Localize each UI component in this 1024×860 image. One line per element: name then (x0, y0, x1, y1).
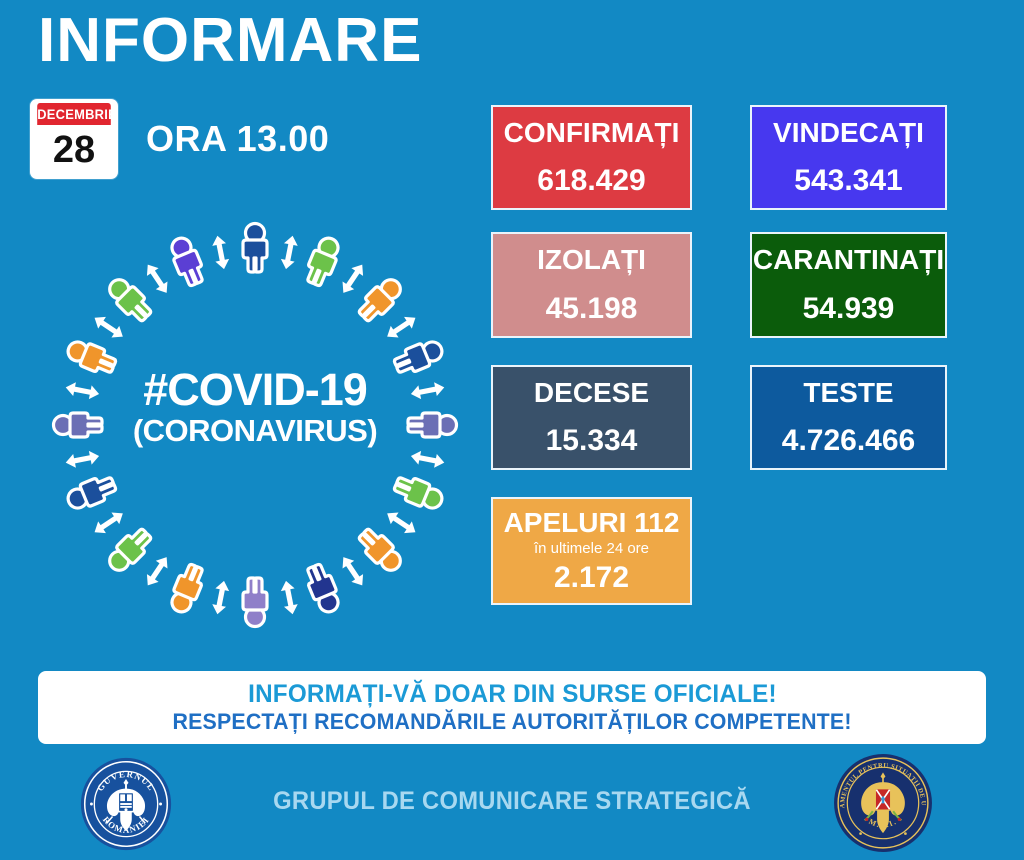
time-label: ORA 13.00 (146, 118, 329, 160)
double-arrow-icon (410, 449, 446, 469)
advisory-line-2: RESPECTAȚI RECOMANDĂRILE AUTORITĂȚILOR C… (172, 709, 851, 734)
double-arrow-icon (142, 261, 173, 297)
person-icon (392, 337, 446, 378)
stat-value-confirmati: 618.429 (537, 164, 645, 197)
stat-box-decese: DECESE 15.334 (491, 365, 692, 470)
stat-value-apeluri: 2.172 (554, 561, 629, 594)
stat-value-izolati: 45.198 (546, 292, 638, 325)
dsu-mai-seal-icon: DEPARTAMENTUL PENTRU SITUAȚII DE URGENȚĂ… (832, 752, 934, 854)
advisory-line-1: INFORMAȚI-VĂ DOAR DIN SURSE OFICIALE! (248, 680, 777, 709)
stat-label-apeluri: APELURI 112 (504, 508, 680, 539)
calendar-icon: DECEMBRIE 28 (30, 99, 118, 179)
double-arrow-icon (211, 234, 231, 270)
stat-label-vindecati: VINDECAȚI (773, 118, 924, 149)
stat-box-teste: TESTE 4.726.466 (750, 365, 947, 470)
person-icon (167, 562, 208, 616)
stat-value-vindecati: 543.341 (794, 164, 902, 197)
people-circle-illustration: #COVID-19 (CORONAVIRUS) (45, 215, 465, 635)
double-arrow-icon (91, 508, 127, 539)
stat-value-carantinati: 54.939 (803, 292, 895, 325)
stat-label-carantinati: CARANTINAȚI (753, 245, 944, 276)
person-icon (167, 234, 208, 288)
person-icon (303, 562, 344, 616)
person-icon (64, 337, 118, 378)
stat-value-decese: 15.334 (546, 424, 638, 457)
double-arrow-icon (410, 381, 446, 401)
page-title: INFORMARE (38, 8, 422, 73)
people-circle-icon (45, 215, 465, 635)
person-icon (408, 413, 457, 437)
advisory-banner: INFORMAȚI-VĂ DOAR DIN SURSE OFICIALE! RE… (38, 671, 986, 744)
double-arrow-icon (383, 312, 419, 343)
calendar-month-label: DECEMBRIE (37, 103, 111, 125)
double-arrow-icon (64, 449, 100, 469)
double-arrow-icon (279, 580, 299, 616)
person-icon (303, 234, 344, 288)
stat-box-apeluri: APELURI 112 în ultimele 24 ore 2.172 (491, 497, 692, 605)
double-arrow-icon (142, 553, 173, 589)
stat-box-izolati: IZOLAȚI 45.198 (491, 232, 692, 338)
person-icon (243, 224, 267, 273)
calendar-day-label: 28 (34, 125, 114, 175)
person-icon (104, 274, 155, 325)
person-icon (392, 473, 446, 514)
person-icon (355, 525, 406, 576)
person-icon (54, 413, 103, 437)
stat-box-vindecati: VINDECAȚI 543.341 (750, 105, 947, 210)
stat-label-izolati: IZOLAȚI (537, 245, 646, 276)
stat-label-confirmati: CONFIRMAȚI (504, 118, 680, 149)
person-icon (64, 473, 118, 514)
double-arrow-icon (338, 261, 369, 297)
date-time-bar: DECEMBRIE 28 ORA 13.00 (30, 99, 329, 179)
stat-sublabel-apeluri: în ultimele 24 ore (534, 541, 649, 558)
double-arrow-icon (338, 553, 369, 589)
stat-value-teste: 4.726.466 (782, 424, 915, 457)
person-icon (243, 578, 267, 627)
person-icon (355, 274, 406, 325)
stat-box-carantinati: CARANTINAȚI 54.939 (750, 232, 947, 338)
double-arrow-icon (211, 580, 231, 616)
stat-box-confirmati: CONFIRMAȚI 618.429 (491, 105, 692, 210)
stat-label-teste: TESTE (803, 378, 893, 409)
infographic-canvas: INFORMARE DECEMBRIE 28 ORA 13.00 (0, 0, 1024, 860)
double-arrow-icon (383, 508, 419, 539)
double-arrow-icon (91, 312, 127, 343)
double-arrow-icon (279, 234, 299, 270)
double-arrow-icon (64, 381, 100, 401)
person-icon (104, 525, 155, 576)
stat-label-decese: DECESE (534, 378, 649, 409)
